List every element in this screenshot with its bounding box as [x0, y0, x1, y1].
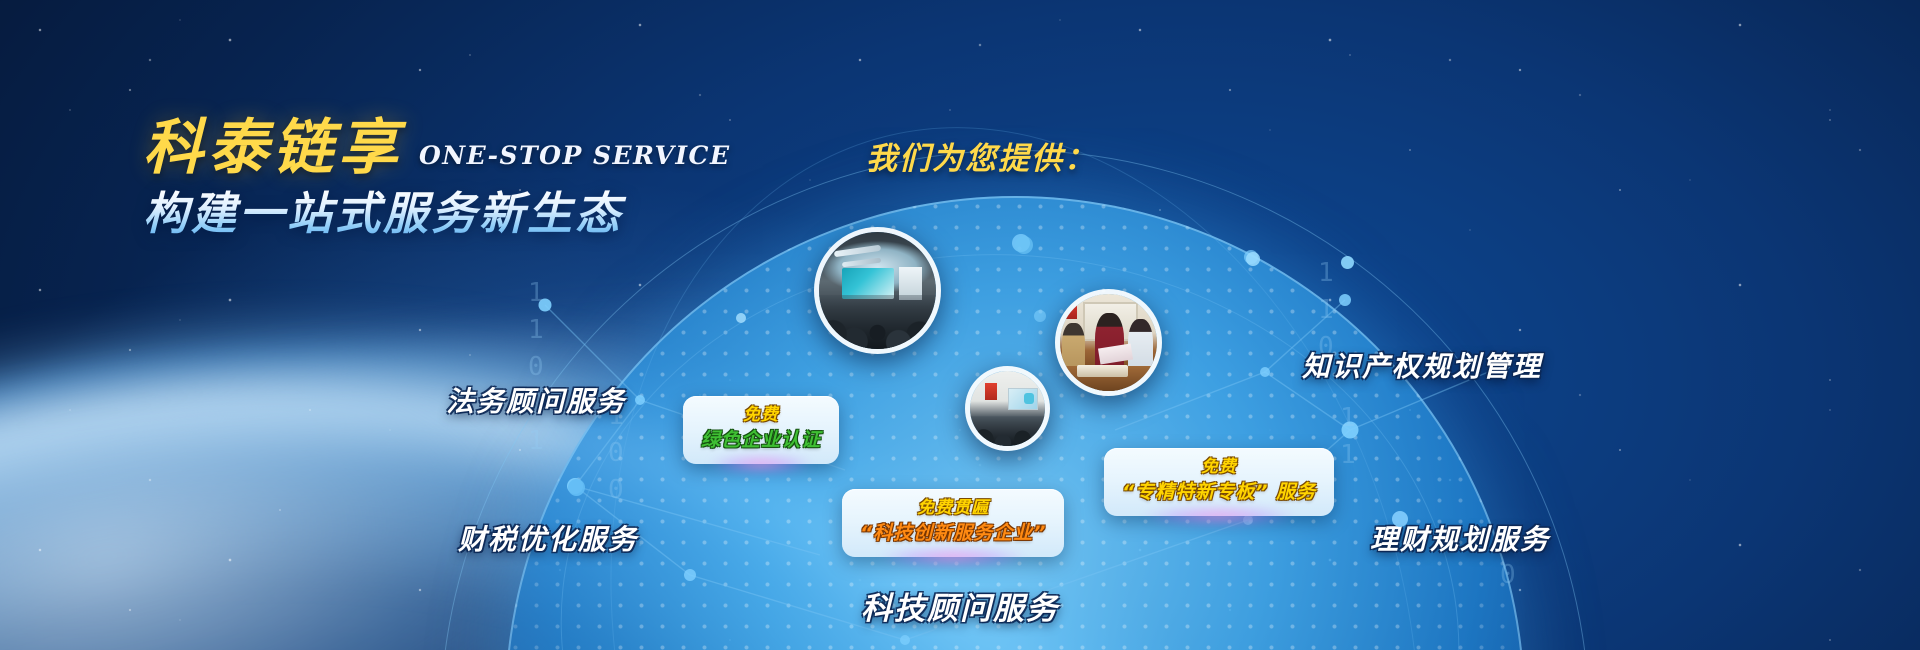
badge-green-enterprise-certification[interactable]: 免费 绿色企业认证: [683, 396, 839, 464]
accent-dot-6: [568, 479, 585, 496]
service-label-ip-planning[interactable]: 知识产权规划管理: [1302, 345, 1542, 385]
badge-free-label: 免费: [701, 405, 821, 426]
section-heading: 我们为您提供：: [866, 133, 1097, 178]
service-banner: 11001 100 110 11 10 科泰链享 ONE-STOP SERVIC…: [0, 0, 1920, 650]
badge-specialized-new-board-service[interactable]: 免费 “专精特新专板” 服务: [1104, 448, 1334, 516]
service-label-tech-consulting[interactable]: 科技顾问服务: [861, 583, 1059, 628]
binary-decor-left: 11001: [528, 275, 545, 460]
accent-dot-3: [1015, 236, 1033, 254]
accent-dot-5: [736, 313, 746, 323]
badge-service-label: “科技创新服务企业”: [860, 521, 1046, 546]
service-label-wealth-planning[interactable]: 理财规划服务: [1370, 518, 1550, 558]
meeting-room-photo: [965, 366, 1050, 451]
page-title: 科泰链享: [143, 118, 403, 178]
service-label-legal-advisory[interactable]: 法务顾问服务: [446, 380, 626, 420]
badge-free-label: 免费: [1122, 457, 1316, 478]
badge-service-label: “专精特新专板” 服务: [1122, 480, 1316, 505]
page-title-english: ONE-STOP SERVICE: [419, 141, 731, 178]
accent-dot-4: [1246, 252, 1260, 266]
service-label-tax-optimization[interactable]: 财税优化服务: [458, 518, 638, 558]
accent-dot-1: [1341, 256, 1354, 269]
page-subtitle: 构建一站式服务新生态: [143, 188, 731, 240]
binary-decor-right2: 11: [1340, 400, 1357, 474]
seminar-hall-photo: [814, 227, 941, 354]
badge-service-label: 绿色企业认证: [701, 428, 821, 453]
consultation-desk-photo: [1055, 289, 1162, 396]
headline-block: 科泰链享 ONE-STOP SERVICE 构建一站式服务新生态: [143, 118, 731, 240]
earth-highlight: [0, 281, 933, 650]
badge-tech-innovation-enterprise[interactable]: 免费贯匾 “科技创新服务企业”: [842, 489, 1064, 557]
badge-free-label: 免费贯匾: [860, 498, 1046, 519]
